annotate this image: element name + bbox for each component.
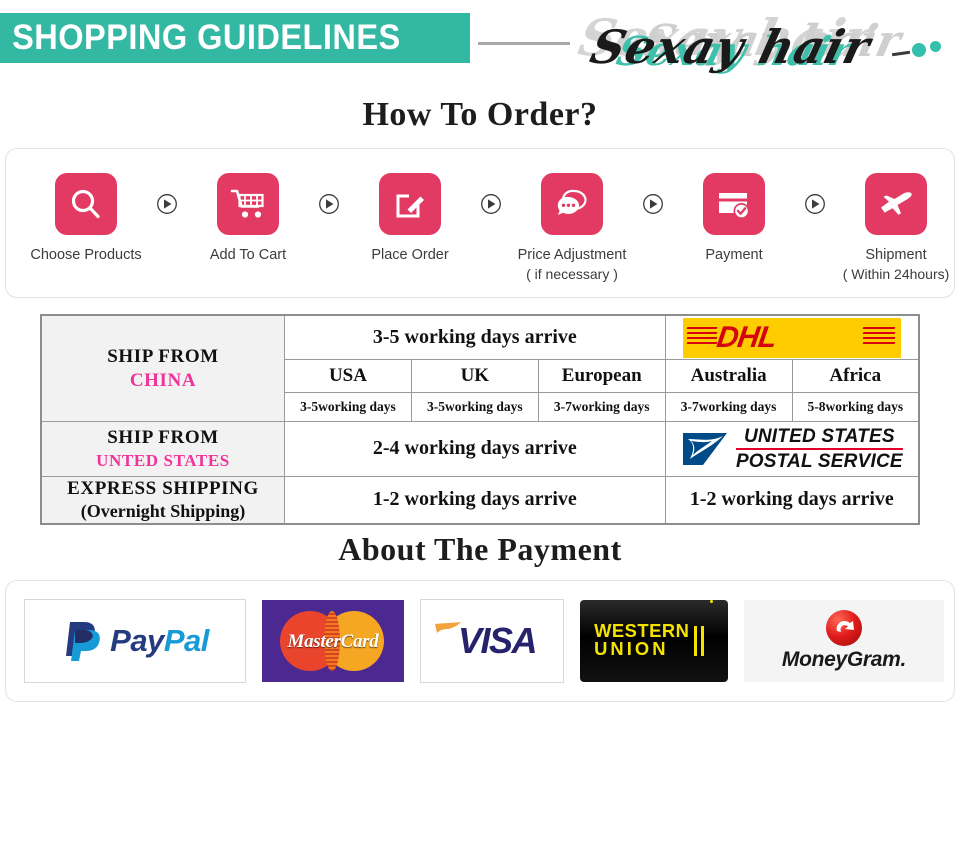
arrow-right-circle-icon: [642, 173, 664, 235]
origin-label-line1: SHIP FROM: [43, 427, 283, 449]
region-header: Australia: [665, 360, 792, 393]
region-days: 3-5working days: [285, 393, 412, 422]
cell-origin-china: SHIP FROM CHINA: [41, 315, 285, 422]
western-union-wordmark: WESTERN UNION: [595, 623, 689, 658]
table-row-china-eta: SHIP FROM CHINA 3-5 working days arrive …: [41, 315, 919, 360]
payment-method-western-union[interactable]: WESTERN UNION: [580, 600, 728, 682]
cell-usps-logo: UNITED STATES POSTAL SERVICE: [665, 422, 919, 477]
cell-origin-express: EXPRESS SHIPPING (Overnight Shipping): [41, 476, 285, 524]
shopping-guidelines-banner: SHOPPING GUIDELINES: [0, 13, 470, 63]
step-label: Payment: [705, 246, 762, 266]
shopping-cart-icon: [217, 173, 279, 235]
usps-red-rule: [736, 448, 903, 451]
moneygram-logo: MoneyGram.: [744, 600, 944, 682]
brand-logo: Sexay hair Sexay hair Sexay hair Sexay h…: [560, 6, 960, 82]
logo-dot-large: [912, 43, 926, 57]
usps-logo: UNITED STATES POSTAL SERVICE: [667, 423, 917, 475]
cell-usa-eta: 2-4 working days arrive: [285, 422, 666, 477]
shipping-info-table: SHIP FROM CHINA 3-5 working days arrive …: [40, 314, 920, 525]
cell-china-eta: 3-5 working days arrive: [285, 315, 666, 360]
region-days: 5-8working days: [792, 393, 919, 422]
visa-logo: VISA: [420, 599, 564, 683]
region-header: European: [538, 360, 665, 393]
step-label: Place Order: [371, 246, 448, 266]
origin-label-line1: EXPRESS SHIPPING: [43, 478, 283, 500]
usps-line1: UNITED STATES: [736, 427, 903, 446]
table-row-express: EXPRESS SHIPPING (Overnight Shipping) 1-…: [41, 476, 919, 524]
mastercard-wordmark: MasterCard: [262, 631, 404, 653]
payment-method-paypal[interactable]: PayPal: [24, 599, 246, 683]
region-days: 3-7working days: [665, 393, 792, 422]
dhl-logo: DHL: [683, 318, 901, 358]
arrow-right-circle-icon: [804, 173, 826, 235]
western-union-trademark-dot: [710, 600, 713, 603]
region-header: USA: [285, 360, 412, 393]
how-to-order-title: How To Order?: [0, 96, 960, 134]
usps-wordmark: UNITED STATES POSTAL SERVICE: [736, 427, 903, 471]
western-union-line2: UNION: [594, 641, 689, 659]
usps-line2: POSTAL SERVICE: [736, 452, 903, 471]
header-divider-line: [478, 42, 570, 45]
airplane-icon: [865, 173, 927, 235]
payment-methods-card: PayPal MasterCard VISA WESTERN UNION: [5, 580, 955, 702]
table-row-usa: SHIP FROM UNTED STATES 2-4 working days …: [41, 422, 919, 477]
paypal-word-part1: Pay: [110, 623, 164, 658]
dhl-speed-lines-left: [687, 327, 719, 349]
paypal-logo: PayPal: [24, 599, 246, 683]
cell-express-eta-left: 1-2 working days arrive: [285, 476, 666, 524]
logo-dot-small: [930, 41, 941, 52]
western-union-bars-icon: [694, 626, 704, 656]
page-header: SHOPPING GUIDELINES Sexay hair Sexay hai…: [0, 0, 960, 88]
moneygram-wordmark: MoneyGram.: [782, 648, 906, 672]
search-icon: [55, 173, 117, 235]
step-label: Shipment: [865, 246, 926, 266]
step-place-order[interactable]: Place Order: [340, 173, 480, 266]
origin-label-line2: UNTED STATES: [43, 451, 283, 471]
credit-card-icon: [703, 173, 765, 235]
origin-label-line2: (Overnight Shipping): [43, 501, 283, 522]
origin-label-line2: CHINA: [43, 370, 283, 392]
region-header: UK: [411, 360, 538, 393]
step-shipment[interactable]: Shipment ( Within 24hours): [826, 173, 960, 282]
cell-express-eta-right: 1-2 working days arrive: [665, 476, 919, 524]
region-header: Africa: [792, 360, 919, 393]
step-sublabel: ( if necessary ): [526, 266, 618, 282]
step-label: Price Adjustment: [518, 246, 627, 266]
step-sublabel: ( Within 24hours): [843, 266, 950, 282]
step-price-adjustment[interactable]: Price Adjustment ( if necessary ): [502, 173, 642, 282]
region-days: 3-5working days: [411, 393, 538, 422]
order-process-card: Choose Products Add To Cart: [5, 148, 955, 298]
mastercard-logo: MasterCard: [262, 600, 404, 682]
step-choose-products[interactable]: Choose Products: [16, 173, 156, 266]
origin-label-line1: SHIP FROM: [43, 346, 283, 368]
visa-wordmark: VISA: [458, 620, 536, 662]
about-payment-title: About The Payment: [0, 531, 960, 568]
dhl-wordmark: DHL: [714, 321, 777, 355]
cell-origin-usa: SHIP FROM UNTED STATES: [41, 422, 285, 477]
step-label: Choose Products: [30, 246, 141, 266]
paypal-wordmark: PayPal: [110, 623, 209, 659]
chat-bubble-icon: [541, 173, 603, 235]
arrow-right-circle-icon: [156, 173, 178, 235]
arrow-right-circle-icon: [480, 173, 502, 235]
payment-method-visa[interactable]: VISA: [420, 599, 564, 683]
step-add-to-cart[interactable]: Add To Cart: [178, 173, 318, 266]
step-label: Add To Cart: [210, 246, 286, 266]
moneygram-globe-icon: [826, 610, 862, 646]
edit-pencil-icon: [379, 173, 441, 235]
cell-dhl-logo: DHL: [665, 315, 919, 360]
paypal-word-part2: Pal: [164, 623, 209, 658]
region-days: 3-7working days: [538, 393, 665, 422]
western-union-logo: WESTERN UNION: [580, 600, 728, 682]
paypal-mark-icon: [61, 618, 103, 664]
banner-title: SHOPPING GUIDELINES: [0, 18, 401, 58]
visa-flag-icon: [435, 622, 463, 642]
step-payment[interactable]: Payment: [664, 173, 804, 266]
logo-main-text: Sexay hair: [585, 20, 876, 74]
dhl-speed-lines-right: [863, 327, 897, 349]
arrow-right-circle-icon: [318, 173, 340, 235]
payment-method-moneygram[interactable]: MoneyGram.: [744, 600, 944, 682]
usps-eagle-icon: [681, 429, 729, 469]
payment-method-mastercard[interactable]: MasterCard: [262, 600, 404, 682]
